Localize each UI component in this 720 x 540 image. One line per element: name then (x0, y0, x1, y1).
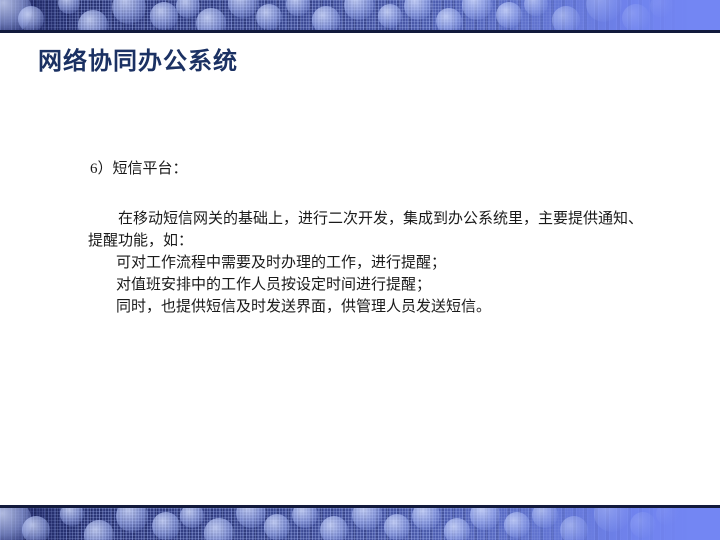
header-decorative-band (0, 0, 720, 30)
section-heading: 6）短信平台： (90, 158, 648, 180)
header-decoration-pattern (0, 0, 690, 30)
header-blob-cluster (0, 0, 690, 30)
header-rule (0, 30, 720, 33)
list-item: 同时，也提供短信及时发送界面，供管理人员发送短信。 (116, 296, 648, 318)
list-item: 可对工作流程中需要及时办理的工作，进行提醒； (116, 252, 648, 274)
section-paragraph: 在移动短信网关的基础上，进行二次开发，集成到办公系统里，主要提供通知、提醒功能，… (88, 208, 648, 252)
list-item: 对值班安排中的工作人员按设定时间进行提醒； (116, 274, 648, 296)
footer-blob-cluster (0, 508, 690, 540)
page-title: 网络协同办公系统 (38, 41, 238, 76)
footer-decoration-pattern (0, 508, 690, 540)
slide-body: 6）短信平台： 在移动短信网关的基础上，进行二次开发，集成到办公系统里，主要提供… (88, 158, 648, 318)
slide-canvas: 网络协同办公系统 6）短信平台： 在移动短信网关的基础上，进行二次开发，集成到办… (0, 0, 720, 540)
feature-list: 可对工作流程中需要及时办理的工作，进行提醒； 对值班安排中的工作人员按设定时间进… (88, 252, 648, 318)
footer-decorative-band: 头条 @售前方案资料馆 (0, 508, 720, 540)
